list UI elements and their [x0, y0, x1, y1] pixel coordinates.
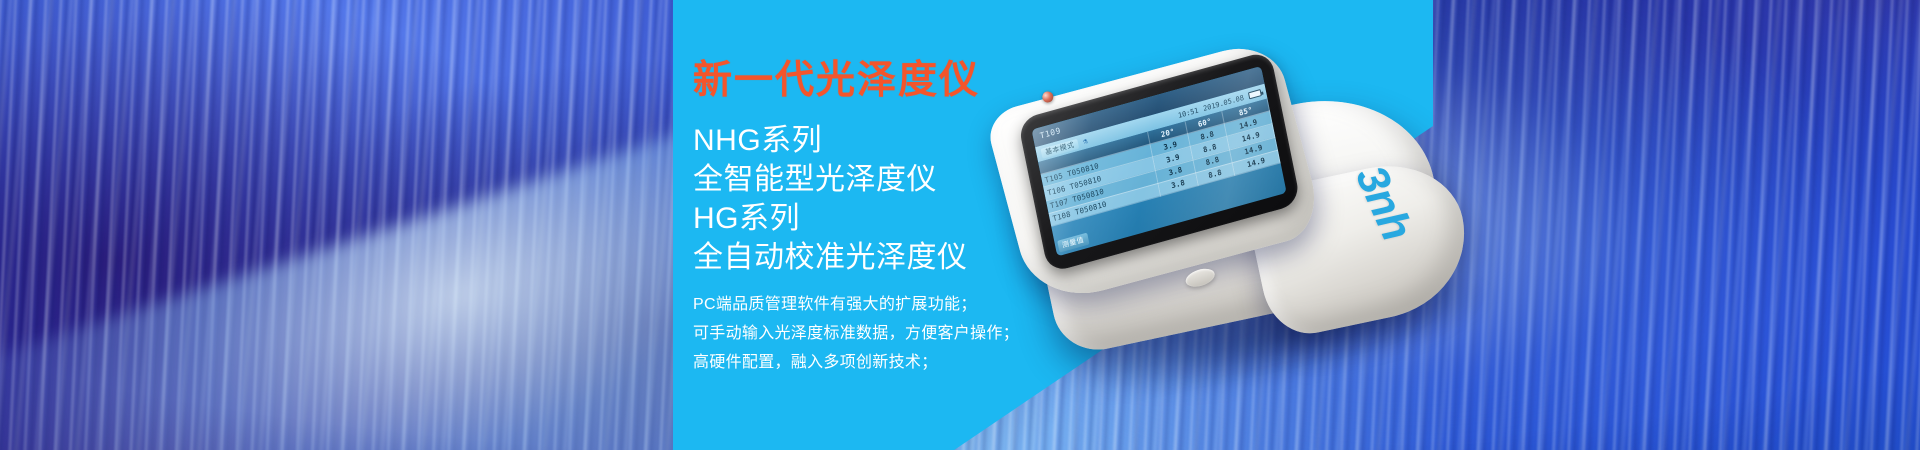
- product-series-line-2: 全智能型光泽度仪: [693, 160, 968, 199]
- feature-bullet-list: PC端品质管理软件有强大的扩展功能； 可手动输入光泽度标准数据，方便客户操作； …: [693, 290, 1019, 377]
- measure-value-button[interactable]: 测量值: [1057, 233, 1089, 253]
- battery-icon: [1248, 89, 1262, 99]
- product-series-line-4: 全自动校准光泽度仪: [693, 238, 968, 277]
- feature-bullet-1: PC端品质管理软件有强大的扩展功能；: [693, 290, 1019, 319]
- product-banner: 新一代光泽度仪 NHG系列 全智能型光泽度仪 HG系列 全自动校准光泽度仪 PC…: [0, 0, 1920, 450]
- flask-icon: ⚗: [1082, 136, 1088, 146]
- product-series-list: NHG系列 全智能型光泽度仪 HG系列 全自动校准光泽度仪: [693, 121, 968, 277]
- product-series-line-1: NHG系列: [693, 121, 968, 160]
- device-body-group: T109 基本模式 ⚗ 10:51 2019.05.08 20°: [957, 0, 1602, 450]
- product-series-line-3: HG系列: [693, 199, 968, 238]
- feature-bullet-3: 高硬件配置，融入多项创新技术；: [693, 348, 1019, 377]
- feature-bullet-2: 可手动输入光泽度标准数据，方便客户操作；: [693, 319, 1019, 348]
- gloss-meter-device: T109 基本模式 ⚗ 10:51 2019.05.08 20°: [1000, 0, 1560, 450]
- banner-headline: 新一代光泽度仪: [693, 49, 980, 105]
